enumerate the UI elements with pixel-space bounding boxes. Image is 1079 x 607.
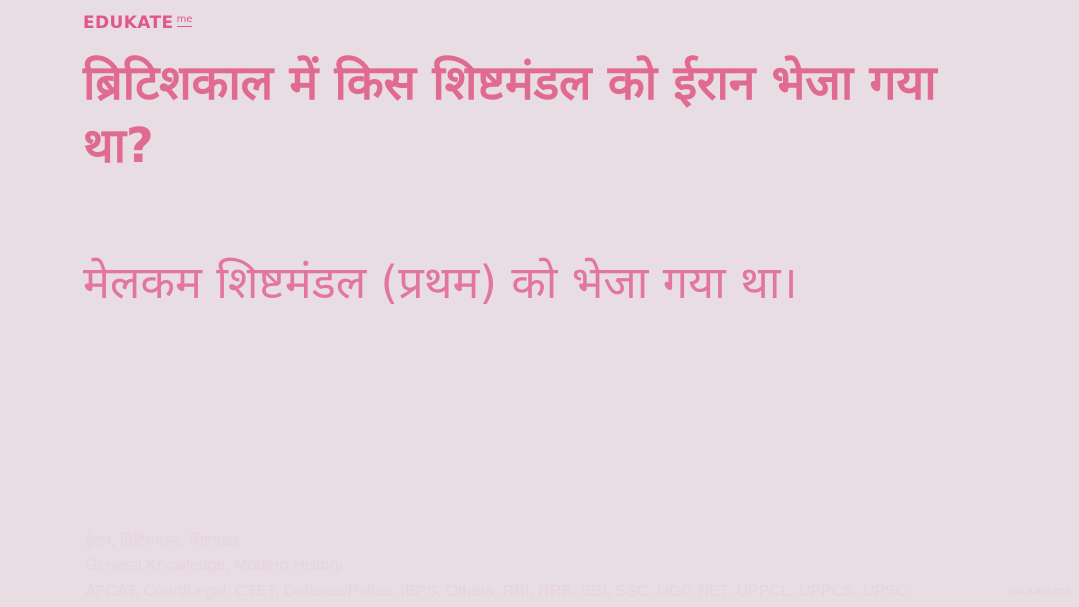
brand-suffix: me — [177, 15, 193, 27]
question-text: ब्रिटिशकाल में किस शिष्टमंडल को ईरान भेज… — [83, 52, 963, 179]
answer-text: मेलकम शिष्टमंडल (प्रथम) को भेजा गया था। — [83, 250, 963, 315]
meta-footer: ईरान, ब्रिटिशकाल, शिष्टमंडल General Know… — [85, 529, 1045, 605]
question-slide: EDUKATE me ब्रिटिशकाल में किस शिष्टमंडल … — [0, 0, 1079, 607]
meta-subjects: General Knowledge, Modern History — [85, 553, 1045, 579]
brand-logo[interactable]: EDUKATE me — [83, 15, 192, 32]
corner-watermark: edukate.me — [1009, 585, 1071, 597]
meta-exams: AFCAT, Court/Legal, CTET, Defence/Police… — [85, 579, 1045, 605]
brand-name: EDUKATE — [83, 15, 174, 32]
meta-tags: ईरान, ब्रिटिशकाल, शिष्टमंडल — [85, 529, 1045, 553]
